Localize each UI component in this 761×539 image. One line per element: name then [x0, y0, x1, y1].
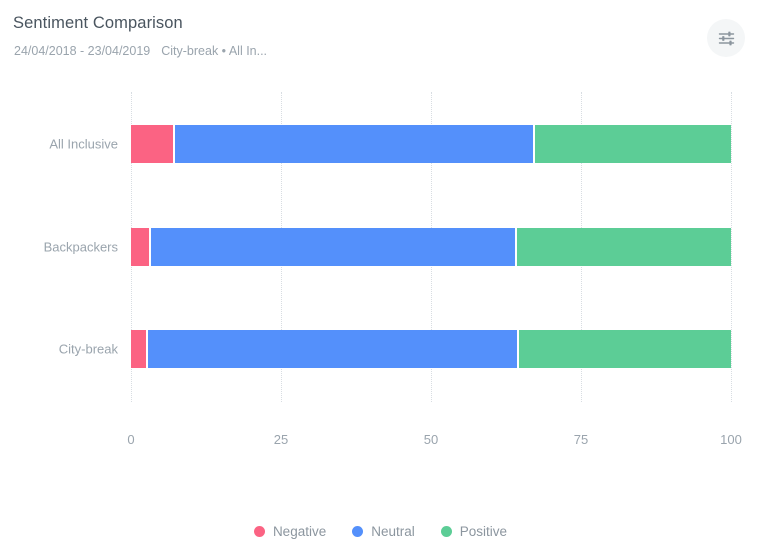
y-axis-label-backpackers: Backpackers — [0, 240, 118, 255]
bar-segment-positive[interactable] — [535, 125, 731, 163]
bar-segment-positive[interactable] — [517, 228, 731, 266]
plot-area: 0 25 50 75 100 — [131, 92, 731, 402]
bar-segment-negative[interactable] — [131, 125, 173, 163]
x-axis-tick-100: 100 — [720, 432, 742, 447]
legend-dot-positive-icon — [441, 526, 452, 537]
y-axis-label-all-inclusive: All Inclusive — [0, 137, 118, 152]
date-range-label: 24/04/2018 - 23/04/2019 — [14, 44, 150, 58]
page-title: Sentiment Comparison — [13, 14, 183, 33]
legend-label-negative: Negative — [273, 524, 326, 539]
table-row[interactable] — [131, 125, 731, 163]
table-row[interactable] — [131, 228, 731, 266]
bar-segment-neutral[interactable] — [151, 228, 515, 266]
table-row[interactable] — [131, 330, 731, 368]
legend-item-neutral[interactable]: Neutral — [352, 524, 415, 539]
bar-segment-neutral[interactable] — [148, 330, 517, 368]
legend-label-neutral: Neutral — [371, 524, 415, 539]
x-axis-tick-75: 75 — [574, 432, 588, 447]
x-axis-tick-0: 0 — [127, 432, 134, 447]
bar-segment-neutral[interactable] — [175, 125, 533, 163]
legend-dot-negative-icon — [254, 526, 265, 537]
legend-dot-neutral-icon — [352, 526, 363, 537]
x-axis-tick-25: 25 — [274, 432, 288, 447]
chart-container: 0 25 50 75 100 All Inclusive Backpackers… — [0, 72, 761, 497]
chart-legend: Negative Neutral Positive — [0, 524, 761, 539]
chart-header: Sentiment Comparison 24/04/2018 - 23/04/… — [0, 0, 761, 72]
legend-label-positive: Positive — [460, 524, 507, 539]
gridline-100 — [731, 92, 732, 402]
bar-segment-negative[interactable] — [131, 330, 146, 368]
sliders-icon — [717, 29, 736, 48]
x-axis-tick-50: 50 — [424, 432, 438, 447]
legend-item-positive[interactable]: Positive — [441, 524, 507, 539]
legend-item-negative[interactable]: Negative — [254, 524, 326, 539]
y-axis-label-city-break: City-break — [0, 342, 118, 357]
bar-segment-negative[interactable] — [131, 228, 149, 266]
settings-button[interactable] — [707, 19, 745, 57]
bar-segment-positive[interactable] — [519, 330, 731, 368]
filter-summary-label: City-break • All In... — [161, 44, 267, 58]
chart-subtitle: 24/04/2018 - 23/04/2019City-break • All … — [14, 44, 267, 58]
